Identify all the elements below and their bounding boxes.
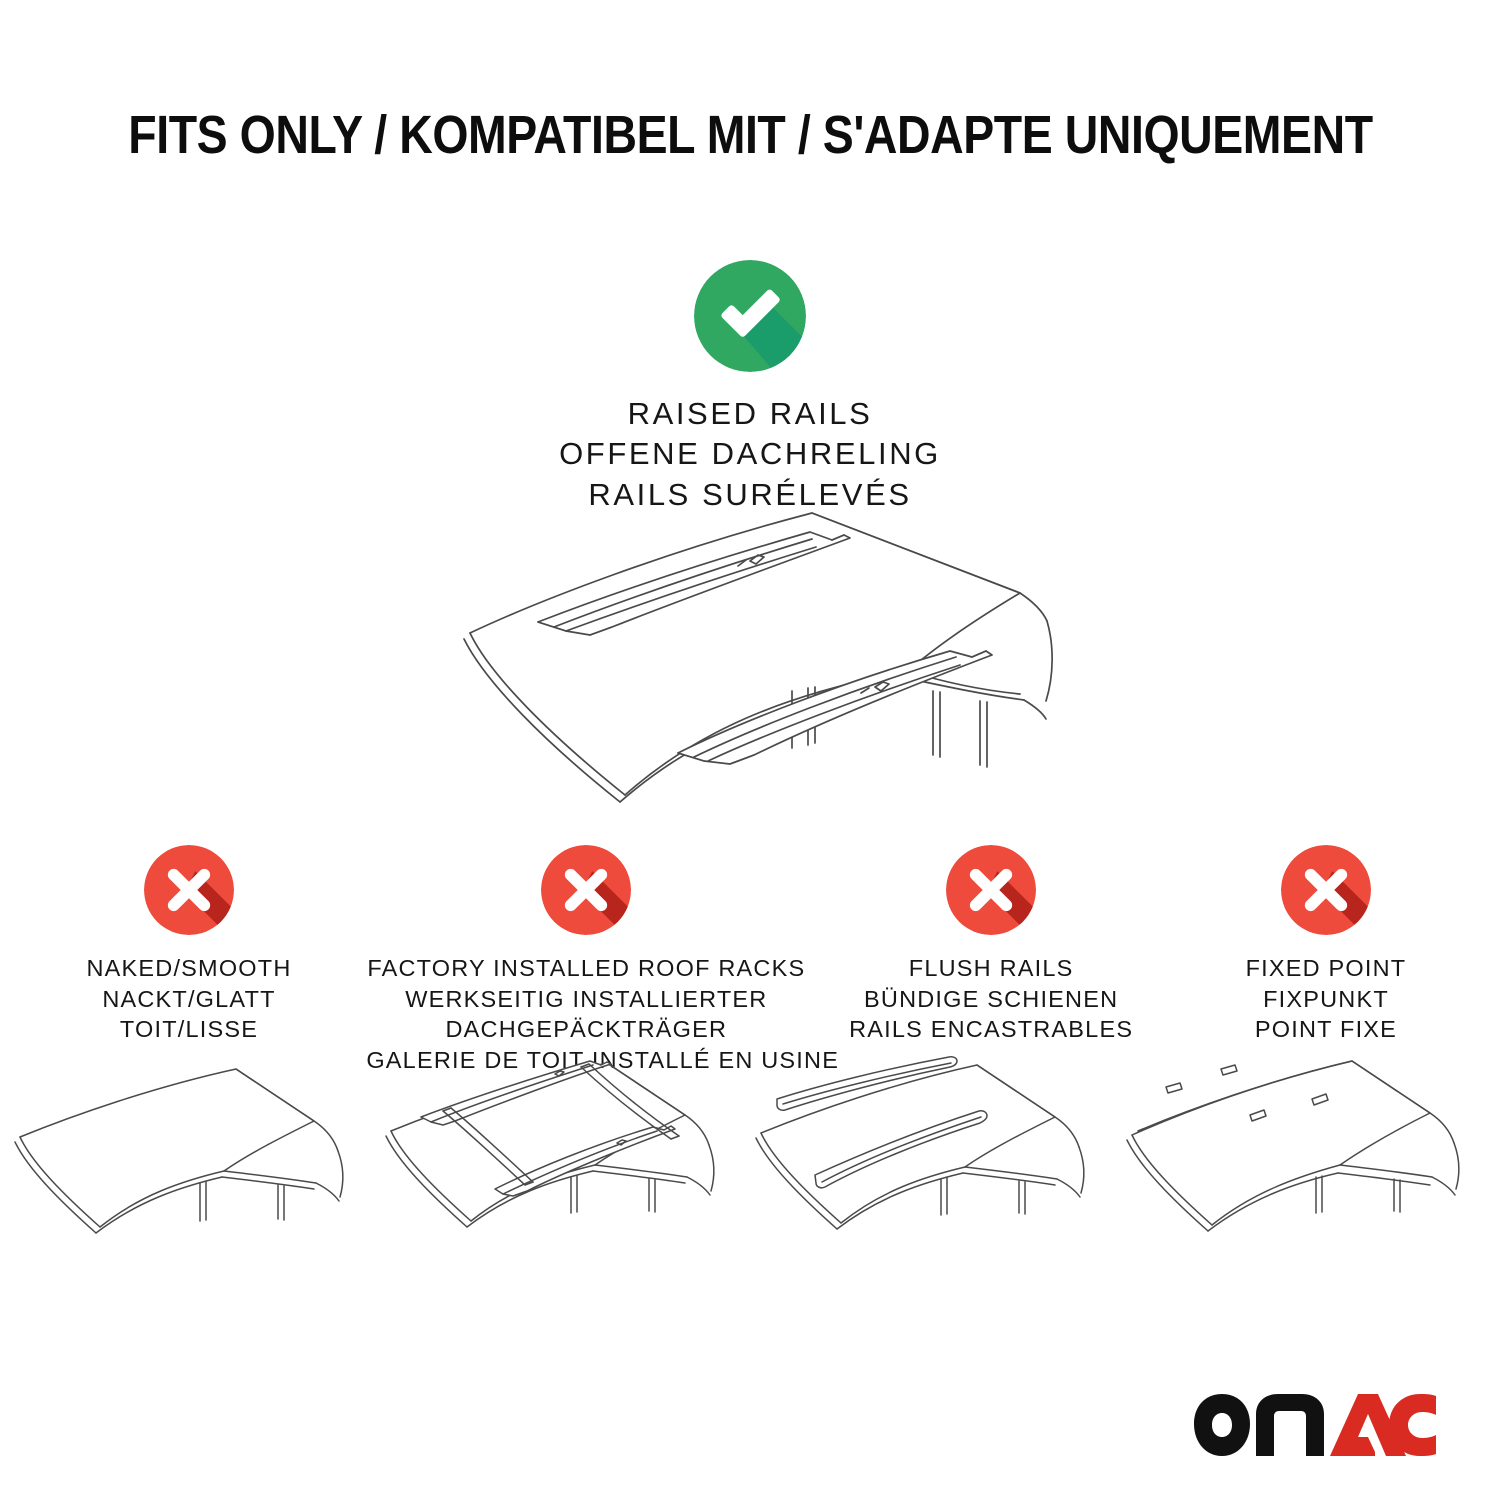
rejected-label-naked: NAKED/SMOOTH NACKT/GLATT TOIT/LISSE xyxy=(24,953,354,1045)
rejected-label-line-1: FIXED POINT xyxy=(1176,953,1476,984)
x-circle-icon xyxy=(1281,845,1371,935)
rejected-item-naked: NAKED/SMOOTH NACKT/GLATT TOIT/LISSE xyxy=(24,845,354,1045)
x-circle-icon xyxy=(946,845,1036,935)
rejected-label-line-2: NACKT/GLATT xyxy=(24,984,354,1015)
car-illustration-row xyxy=(0,1055,1500,1305)
rejected-label-line-1: FACTORY INSTALLED ROOF RACKS xyxy=(366,953,806,984)
page-title: FITS ONLY / KOMPATIBEL MIT / S'ADAPTE UN… xyxy=(128,104,1372,166)
rejected-item-factory-racks: FACTORY INSTALLED ROOF RACKS WERKSEITIG … xyxy=(366,845,806,1075)
rejected-label-line-3: DACHGEPÄCKTRÄGER xyxy=(366,1014,806,1045)
rejected-label-line-2: FIXPUNKT xyxy=(1176,984,1476,1015)
rejected-label-line-2: BÜNDIGE SCHIENEN xyxy=(819,984,1164,1015)
x-circle-icon xyxy=(144,845,234,935)
car-roof-factory-racks-illustration xyxy=(385,1055,745,1305)
rejected-label-flush-rails: FLUSH RAILS BÜNDIGE SCHIENEN RAILS ENCAS… xyxy=(819,953,1164,1045)
approved-section: RAISED RAILS OFFENE DACHRELING RAILS SUR… xyxy=(0,260,1500,515)
approved-label: RAISED RAILS OFFENE DACHRELING RAILS SUR… xyxy=(0,394,1500,515)
car-roof-fixed-point-illustration xyxy=(1126,1055,1486,1305)
car-roof-raised-rails-illustration xyxy=(420,505,1110,805)
rejected-section: NAKED/SMOOTH NACKT/GLATT TOIT/LISSE FACT… xyxy=(0,845,1500,1075)
approved-label-line-1: RAISED RAILS xyxy=(0,394,1500,434)
rejected-label-line-3: RAILS ENCASTRABLES xyxy=(819,1014,1164,1045)
rejected-label-line-3: TOIT/LISSE xyxy=(24,1014,354,1045)
page-title-bar: FITS ONLY / KOMPATIBEL MIT / S'ADAPTE UN… xyxy=(0,104,1500,166)
rejected-label-line-1: NAKED/SMOOTH xyxy=(24,953,354,984)
car-roof-naked-illustration xyxy=(14,1055,374,1305)
rejected-item-flush-rails: FLUSH RAILS BÜNDIGE SCHIENEN RAILS ENCAS… xyxy=(819,845,1164,1045)
x-circle-icon xyxy=(541,845,631,935)
check-circle-icon xyxy=(694,260,806,372)
rejected-label-fixed-point: FIXED POINT FIXPUNKT POINT FIXE xyxy=(1176,953,1476,1045)
omac-logo xyxy=(1192,1392,1438,1458)
rejected-label-line-2: WERKSEITIG INSTALLIERTER xyxy=(366,984,806,1015)
rejected-label-line-1: FLUSH RAILS xyxy=(819,953,1164,984)
rejected-item-fixed-point: FIXED POINT FIXPUNKT POINT FIXE xyxy=(1176,845,1476,1045)
car-roof-flush-rails-illustration xyxy=(755,1055,1115,1305)
rejected-label-line-3: POINT FIXE xyxy=(1176,1014,1476,1045)
approved-label-line-2: OFFENE DACHRELING xyxy=(0,434,1500,474)
